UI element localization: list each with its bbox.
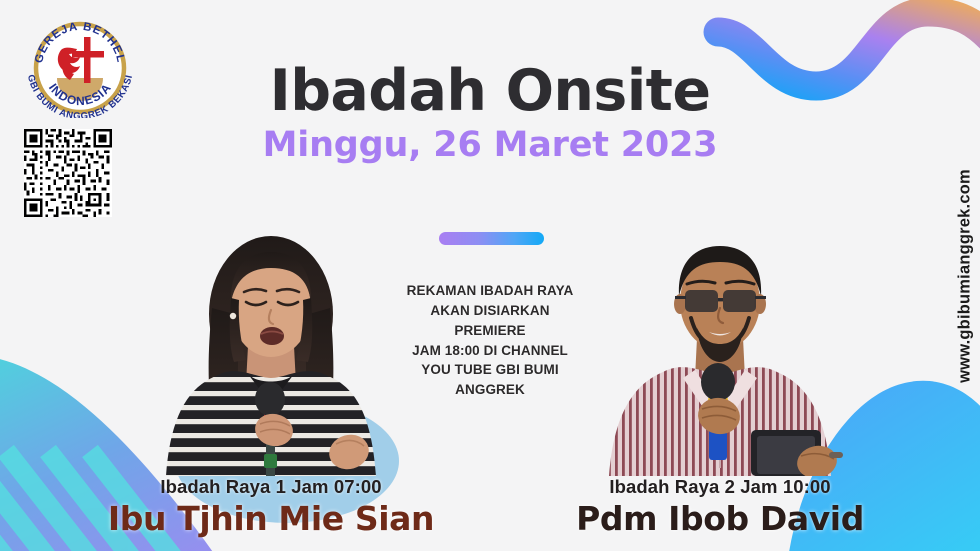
headline-block: Ibadah Onsite Minggu, 26 Maret 2023	[0, 62, 980, 165]
speaker-card-1: Ibadah Raya 1 Jam 07:00 Ibu Tjhin Mie Si…	[96, 216, 446, 551]
website-anchor: www.gbibumianggrek.com	[846, 0, 980, 551]
page-title: Ibadah Onsite	[0, 62, 980, 120]
speaker-1-name: Ibu Tjhin Mie Sian	[96, 501, 446, 537]
speaker-1-portrait-icon	[96, 216, 446, 476]
speaker-photo-2	[545, 216, 895, 476]
speaker-2-name: Pdm Ibob David	[545, 501, 895, 537]
speaker-photo-1	[96, 216, 446, 476]
gradient-divider	[439, 232, 544, 245]
website-url[interactable]: www.gbibumianggrek.com	[956, 169, 975, 383]
speaker-2-role: Ibadah Raya 2 Jam 10:00	[545, 476, 895, 498]
speaker-card-2: Ibadah Raya 2 Jam 10:00 Pdm Ibob David	[545, 216, 895, 551]
speaker-2-portrait-icon	[545, 216, 895, 476]
speaker-1-role: Ibadah Raya 1 Jam 07:00	[96, 476, 446, 498]
page-subtitle: Minggu, 26 Maret 2023	[0, 126, 980, 165]
poster-canvas: GEREJA BETHEL INDONESIA GBI BUMI ANGGREK…	[0, 0, 980, 551]
